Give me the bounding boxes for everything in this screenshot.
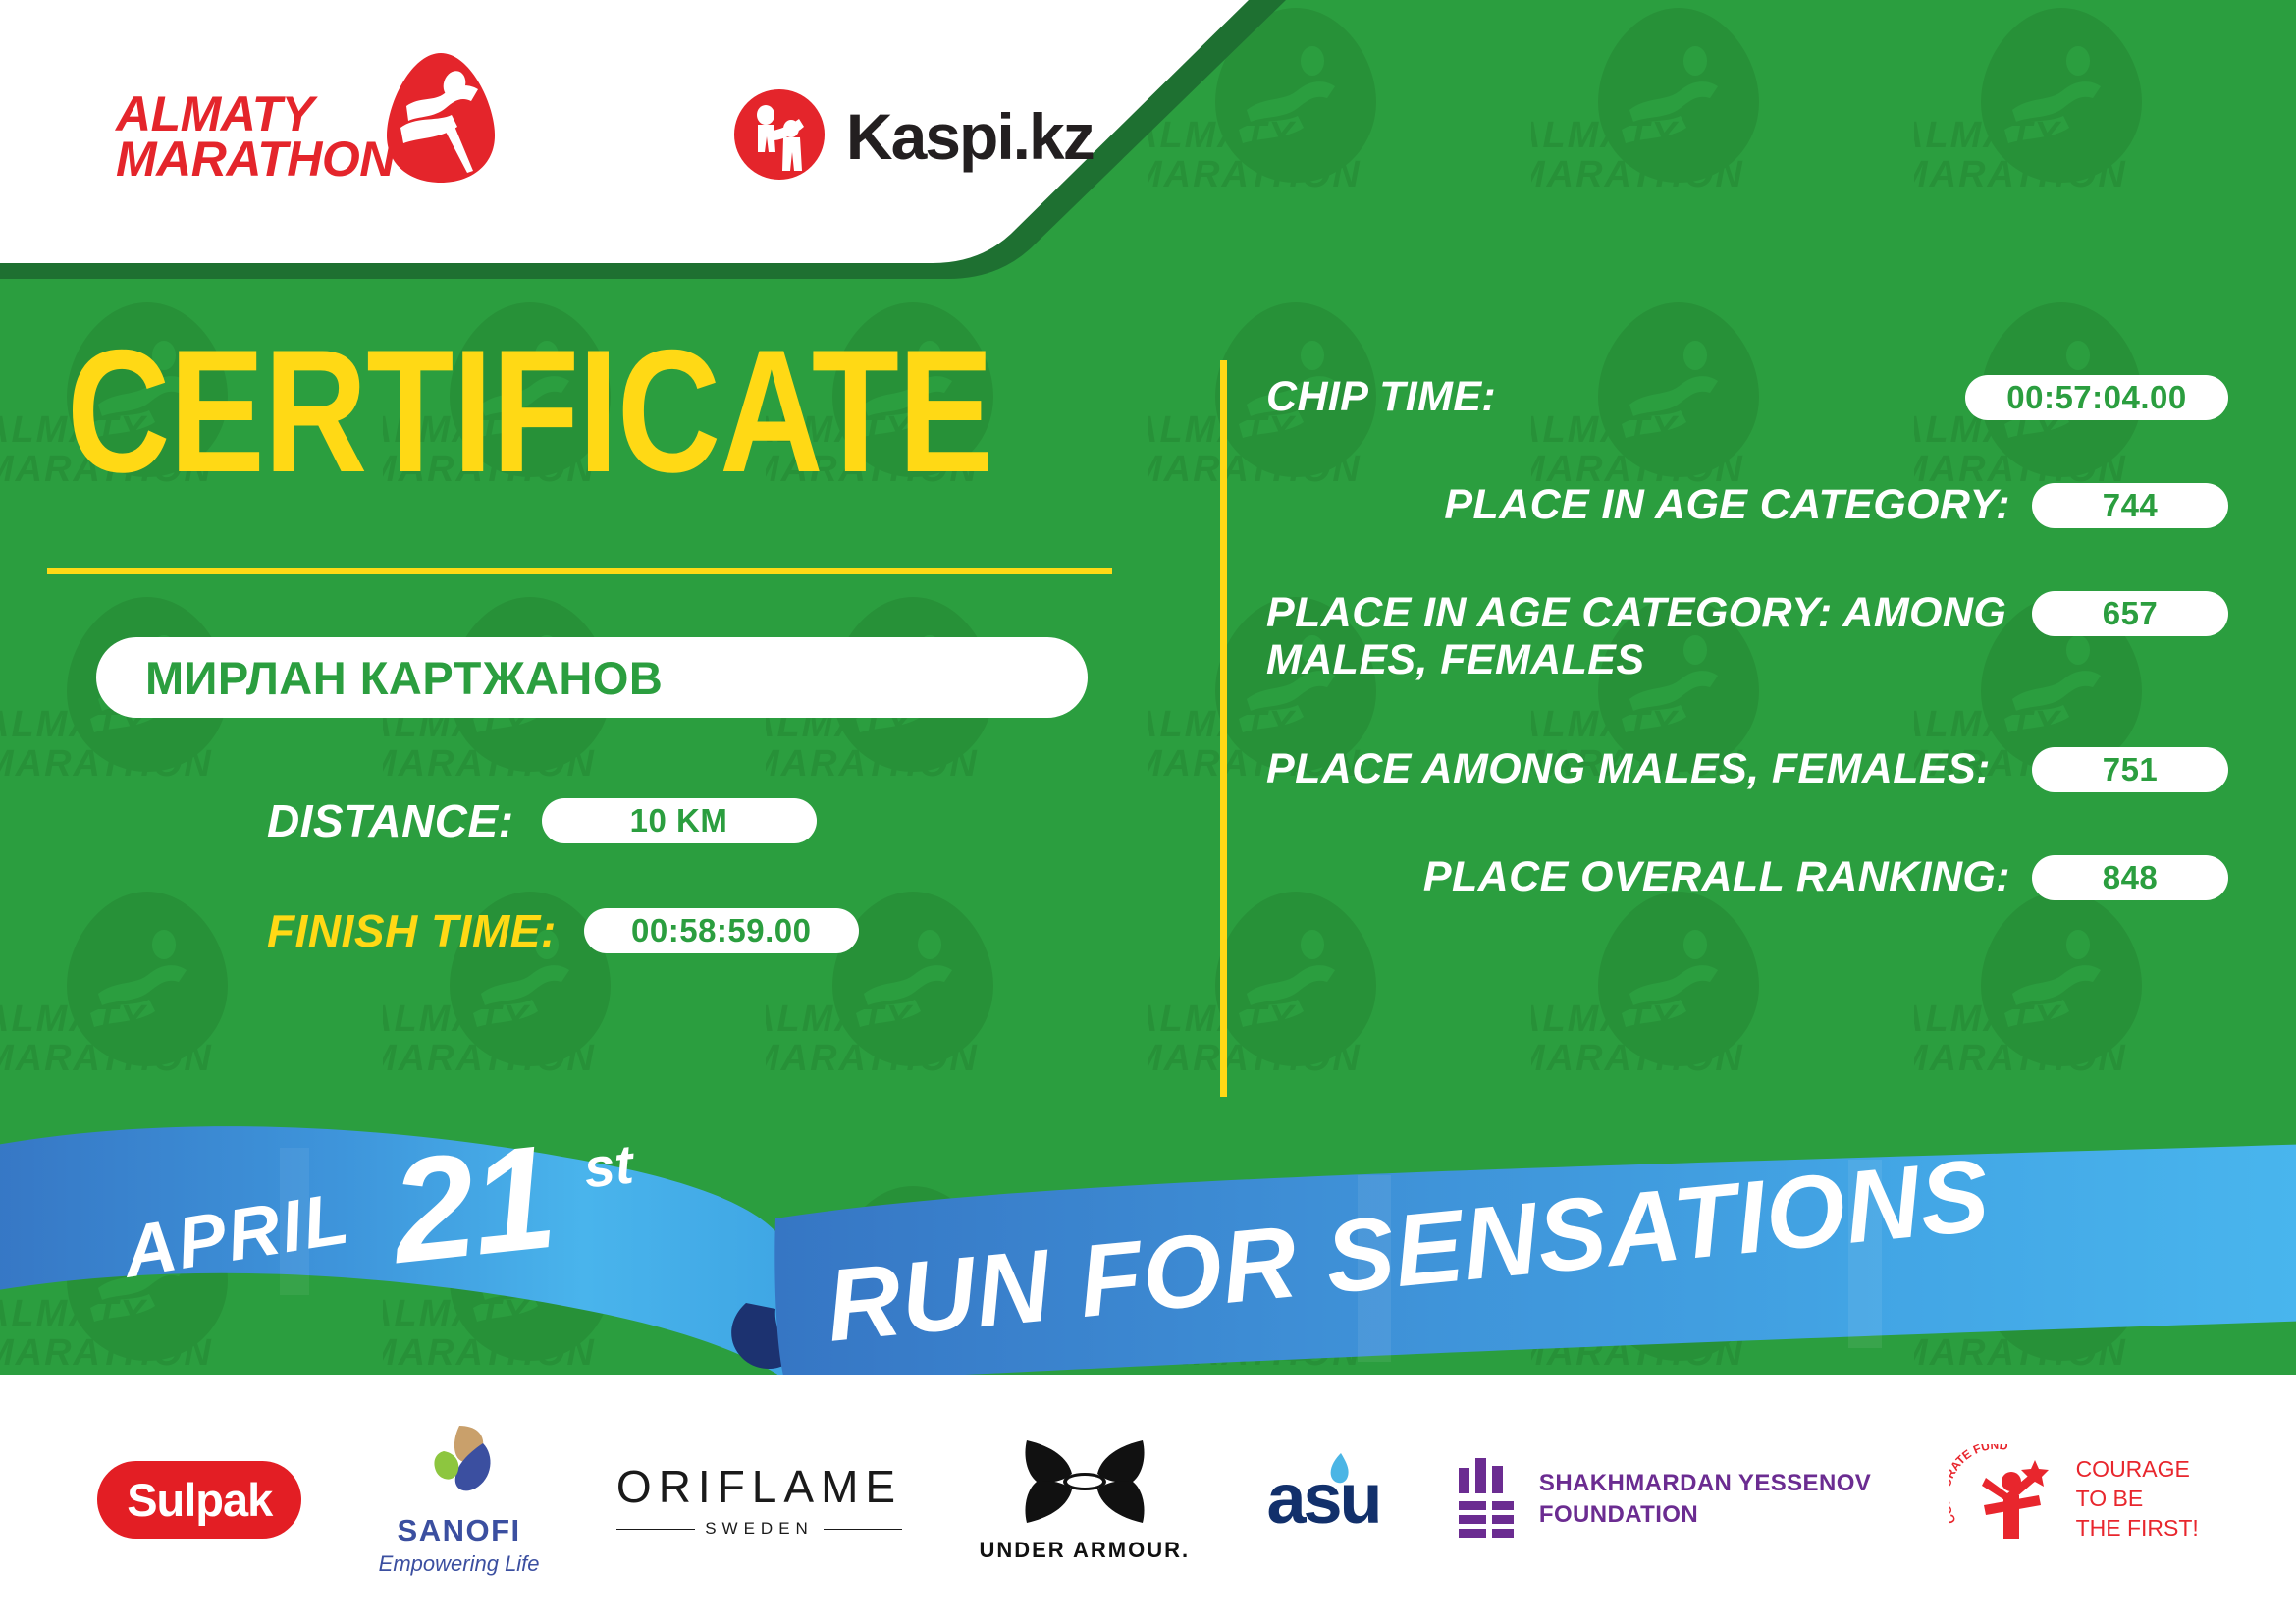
sponsor-asu: asu [1266, 1459, 1379, 1540]
chip-time-value: 00:57:04.00 [2006, 379, 2186, 416]
ribbon-day-suffix: st [581, 1132, 636, 1201]
courage-line2: TO BE [2076, 1485, 2199, 1514]
vertical-divider [1220, 360, 1227, 1097]
sponsor-oriflame: ORIFLAME SWEDEN [616, 1460, 902, 1539]
oriflame-tagline: SWEDEN [705, 1519, 814, 1539]
kaspi-people-circle-icon [734, 89, 825, 185]
place-overall-value-pill: 848 [2032, 855, 2228, 900]
page-title: CERTIFICATE [67, 324, 1212, 499]
courage-line3: THE FIRST! [2076, 1514, 2199, 1543]
sponsor-yessenov-foundation: SHAKHMARDAN YESSENOV FOUNDATION [1457, 1456, 1871, 1543]
stat-row-place-overall: PLACE OVERALL RANKING: 848 [1266, 853, 2228, 900]
almaty-marathon-logo: ALMATY MARATHON [116, 82, 499, 191]
oriflame-sub: SWEDEN [616, 1519, 902, 1539]
distance-value: 10 KM [630, 802, 728, 839]
sponsor-list: Sulpak SANOFI Empowering Life ORIFLAME [0, 1422, 2296, 1577]
sponsor-under-armour: UNDER ARMOUR. [979, 1436, 1190, 1563]
sanofi-wordmark: SANOFI [398, 1513, 521, 1548]
distance-label: DISTANCE: [267, 794, 514, 847]
asu-logo: asu [1266, 1459, 1379, 1540]
place-age-category-gender-value: 657 [2103, 595, 2159, 632]
sulpak-wordmark: Sulpak [127, 1474, 272, 1526]
certificate-canvas: ALMATY MARATHON ALMATY MARATHON [0, 0, 2296, 1624]
sanofi-mark-icon [414, 1422, 505, 1509]
place-overall-value: 848 [2103, 859, 2159, 896]
place-overall-label: PLACE OVERALL RANKING: [1266, 853, 2010, 900]
asu-wordmark: asu [1266, 1460, 1379, 1539]
yessenov-wordmark: SHAKHMARDAN YESSENOV FOUNDATION [1539, 1468, 1871, 1532]
place-among-gender-label: PLACE AMONG MALES, FEMALES: [1266, 745, 2010, 792]
sponsor-strip: Sulpak SANOFI Empowering Life ORIFLAME [0, 1375, 2296, 1624]
distance-value-pill: 10 KM [542, 798, 817, 843]
chip-time-value-pill: 00:57:04.00 [1965, 375, 2228, 420]
yessenov-line1: SHAKHMARDAN YESSENOV [1539, 1468, 1871, 1499]
sponsor-sanofi: SANOFI Empowering Life [379, 1422, 540, 1577]
asu-droplet-icon [1327, 1453, 1353, 1485]
yessenov-mark-icon [1457, 1456, 1522, 1543]
participant-name-value: МИРЛАН КАРТЖАНОВ [145, 651, 663, 705]
sponsor-sulpak: Sulpak [97, 1461, 301, 1539]
stat-row-chip-time: CHIP TIME: 00:57:04.00 [1266, 373, 2228, 420]
left-column: CERTIFICATE МИРЛАН КАРТЖАНОВ DISTANCE: 1… [0, 324, 1212, 957]
header-logos: ALMATY MARATHON [0, 0, 1178, 273]
stat-row-place-among-gender: PLACE AMONG MALES, FEMALES: 751 [1266, 745, 2228, 792]
almaty-marathon-line2: MARATHON [116, 136, 395, 182]
finish-time-value-pill: 00:58:59.00 [584, 908, 859, 953]
oriflame-rule-right [824, 1529, 902, 1530]
stat-row-place-age-category: PLACE IN AGE CATEGORY: 744 [1266, 481, 2228, 528]
finish-time-row: FINISH TIME: 00:58:59.00 [267, 904, 1212, 957]
kaspi-wordmark: Kaspi.kz [846, 99, 1094, 174]
stats-column: CHIP TIME: 00:57:04.00 PLACE IN AGE CATE… [1266, 373, 2228, 961]
sanofi-tagline: Empowering Life [379, 1551, 540, 1577]
participant-name-field: МИРЛАН КАРТЖАНОВ [96, 637, 1088, 718]
title-divider-rule [47, 568, 1112, 574]
sponsor-courage-fund: CORPORATE FUND COURAGE TO BE THE FIRST! [1949, 1444, 2199, 1555]
place-age-category-value-pill: 744 [2032, 483, 2228, 528]
place-age-category-gender-value-pill: 657 [2032, 591, 2228, 636]
under-armour-icon [1019, 1436, 1150, 1532]
place-age-category-label: PLACE IN AGE CATEGORY: [1266, 481, 2010, 528]
courage-fund-wordmark: COURAGE TO BE THE FIRST! [2076, 1455, 2199, 1543]
almaty-marathon-wordmark: ALMATY MARATHON [116, 91, 395, 182]
ribbon-day: 21 [384, 1111, 561, 1297]
finish-time-label: FINISH TIME: [267, 904, 557, 957]
yessenov-line2: FOUNDATION [1539, 1499, 1871, 1531]
stat-row-place-age-category-gender: PLACE IN AGE CATEGORY: AMONG MALES, FEMA… [1266, 589, 2228, 683]
finish-time-value: 00:58:59.00 [631, 912, 811, 949]
place-among-gender-value: 751 [2103, 751, 2159, 788]
place-among-gender-value-pill: 751 [2032, 747, 2228, 792]
courage-line1: COURAGE [2076, 1455, 2199, 1485]
runner-drop-icon [383, 49, 499, 191]
oriflame-rule-left [616, 1529, 695, 1530]
sulpak-logo: Sulpak [97, 1461, 301, 1539]
almaty-marathon-line1: ALMATY [116, 91, 395, 136]
oriflame-wordmark: ORIFLAME [616, 1460, 902, 1513]
place-age-category-value: 744 [2103, 487, 2159, 524]
chip-time-label: CHIP TIME: [1266, 373, 1944, 420]
under-armour-wordmark: UNDER ARMOUR. [979, 1538, 1190, 1563]
distance-row: DISTANCE: 10 KM [267, 794, 1212, 847]
place-age-category-gender-label: PLACE IN AGE CATEGORY: AMONG MALES, FEMA… [1266, 589, 2010, 683]
courage-fund-icon: CORPORATE FUND [1949, 1444, 2064, 1555]
kaspi-logo: Kaspi.kz [734, 89, 1094, 185]
svg-text:CORPORATE FUND: CORPORATE FUND [1949, 1444, 2009, 1526]
